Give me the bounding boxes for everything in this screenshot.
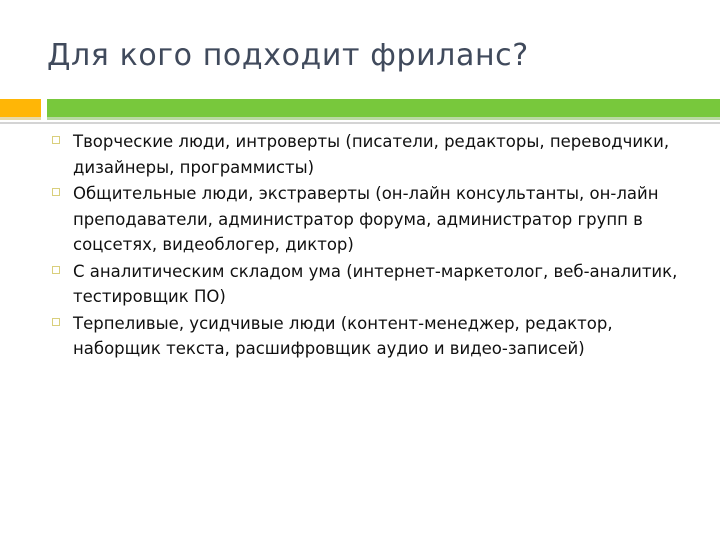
list-item-label: Творческие люди, интроверты (писатели, р… [73, 129, 683, 180]
orange-accent-block-shadow [0, 117, 41, 120]
square-outline-icon [52, 318, 60, 326]
list-item-label: Общительные люди, экстраверты (он-лайн к… [73, 181, 683, 258]
list-item-label: С аналитическим складом ума (интернет-ма… [73, 259, 683, 310]
title-area: Для кого подходит фриланс? [47, 38, 690, 90]
square-outline-icon [52, 188, 60, 196]
bullet-list: Творческие люди, интроверты (писатели, р… [47, 129, 683, 362]
green-accent-bar-shadow [47, 117, 720, 120]
page-title: Для кого подходит фриланс? [47, 38, 690, 74]
green-accent-bar [47, 99, 720, 117]
body-area: Творческие люди, интроверты (писатели, р… [47, 129, 683, 363]
list-item: Общительные люди, экстраверты (он-лайн к… [47, 181, 683, 258]
title-divider [0, 99, 720, 123]
square-outline-icon [52, 266, 60, 274]
slide: Для кого подходит фриланс? Творческие лю… [0, 0, 720, 540]
square-outline-icon [52, 136, 60, 144]
list-item: Терпеливые, усидчивые люди (контент-мене… [47, 311, 683, 362]
orange-accent-block [0, 99, 41, 117]
list-item: С аналитическим складом ума (интернет-ма… [47, 259, 683, 310]
list-item: Творческие люди, интроверты (писатели, р… [47, 129, 683, 180]
list-item-label: Терпеливые, усидчивые люди (контент-мене… [73, 311, 683, 362]
divider-rule [0, 122, 720, 124]
